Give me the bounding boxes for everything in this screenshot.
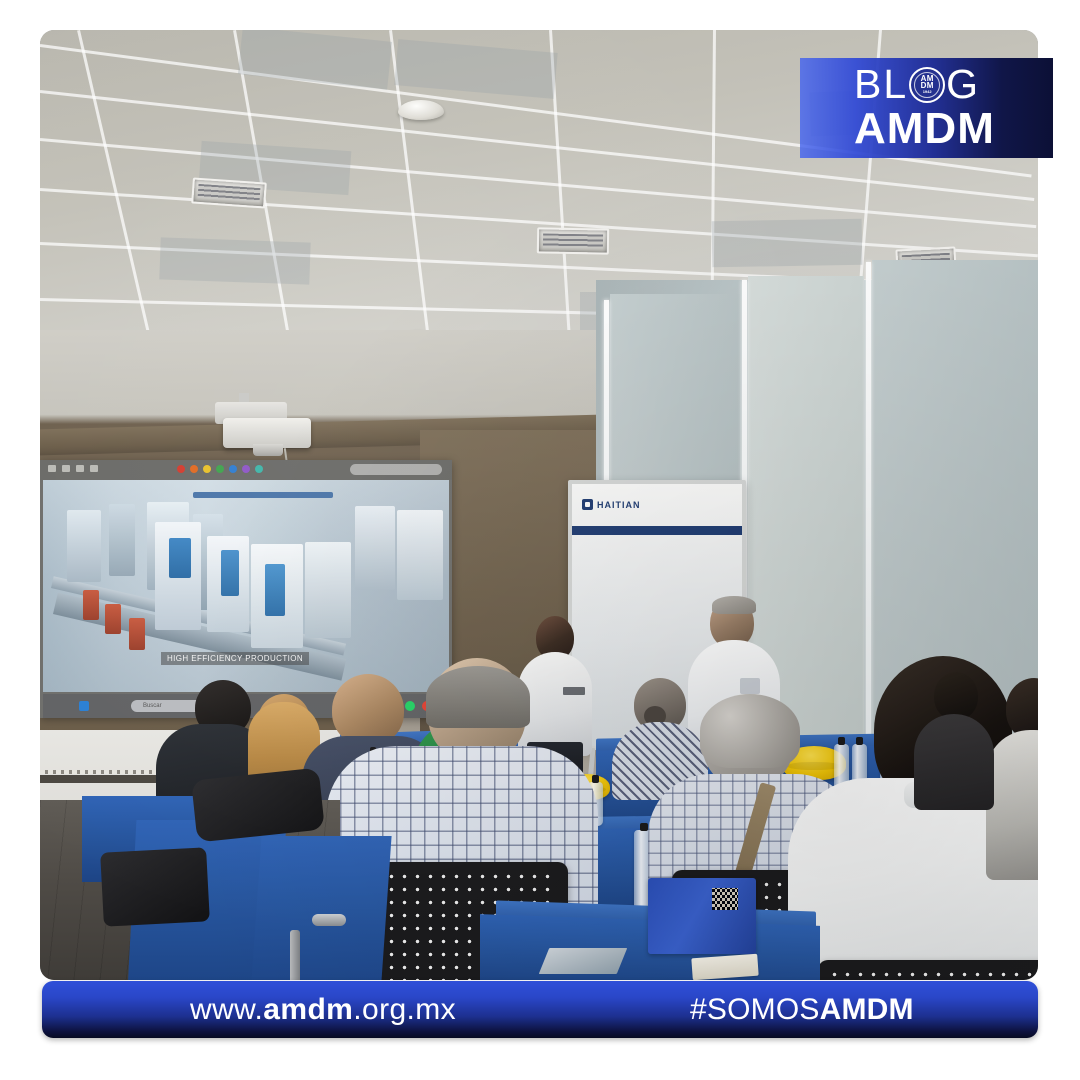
ceiling-tile-shaded [712, 219, 863, 268]
chair-leg [290, 930, 300, 980]
machine-blue-panel [221, 550, 239, 596]
ceiling-tile-shaded [238, 30, 392, 90]
haitian-brand-text: HAITIAN [597, 500, 641, 510]
audience-torso [914, 714, 994, 810]
printed-handout [539, 948, 628, 974]
factory-machine [355, 506, 395, 590]
presenter-one-badge [563, 687, 585, 695]
wall-seam [866, 262, 871, 790]
haitian-mark-icon [582, 499, 593, 510]
seal-year-text: 1942 [923, 89, 932, 94]
toolbar-color-dots [177, 465, 263, 473]
badge-bl-text: BL [854, 64, 908, 104]
screen-app-toolbar [40, 460, 452, 480]
projected-video: HIGH EFFICIENCY PRODUCTION [43, 480, 449, 692]
toolbar-color-dot [229, 465, 237, 473]
factory-machine [109, 504, 135, 576]
machine-blue-panel [169, 538, 191, 578]
factory-machine [397, 510, 443, 600]
factory-robot [83, 590, 99, 620]
presenter-two-pocket [740, 678, 760, 694]
toolbar-color-dot [177, 465, 185, 473]
smoke-detector-icon [398, 100, 444, 120]
hashtag-brand: AMDM [820, 993, 914, 1026]
toolbar-color-dot [190, 465, 198, 473]
projection-screen: HIGH EFFICIENCY PRODUCTION Buscar [40, 460, 452, 718]
blog-amdm-badge: BL AM DM 1942 G AMDM [800, 58, 1053, 158]
badge-line-two: AMDM [854, 107, 1053, 152]
audience-hair [426, 666, 530, 728]
laptop-bag [100, 847, 210, 926]
conference-tote-bag [648, 878, 756, 954]
social-card: HIGH EFFICIENCY PRODUCTION Buscar HAITIA… [0, 0, 1080, 1080]
seal-am-text: AM [921, 75, 934, 82]
tablecloth-left [250, 836, 391, 980]
url-suffix: .org.mx [353, 993, 456, 1026]
toolbar-color-dot [242, 465, 250, 473]
url-brand: amdm [263, 993, 353, 1026]
factory-robot [129, 618, 145, 650]
audience-hair [700, 694, 800, 768]
toolbar-address-field [350, 464, 442, 475]
ceiling-tile-shaded [394, 39, 557, 99]
badge-g-text: G [946, 64, 980, 104]
event-photo: HIGH EFFICIENCY PRODUCTION Buscar HAITIA… [40, 30, 1038, 980]
video-caption: HIGH EFFICIENCY PRODUCTION [161, 652, 309, 665]
toolbar-color-dot [255, 465, 263, 473]
presenter-two-hair [712, 596, 756, 614]
factory-robot [105, 604, 121, 634]
machine-blue-panel [265, 564, 285, 616]
flipchart-accent-band [572, 526, 742, 535]
amdm-seal-logo: AM DM 1942 [909, 67, 945, 103]
factory-machine [305, 542, 351, 638]
haitian-logo: HAITIAN [582, 499, 641, 510]
factory-machine [67, 510, 101, 582]
napkin [691, 954, 758, 980]
qr-code-icon [712, 888, 738, 910]
url-prefix: www. [190, 993, 263, 1026]
chair-armrest [312, 914, 346, 926]
whatsapp-icon [405, 701, 415, 711]
mesh-chair-back [818, 960, 1038, 980]
footer-bar: www.amdm.org.mx #SOMOSAMDM [42, 981, 1038, 1038]
website-url[interactable]: www.amdm.org.mx [190, 993, 456, 1027]
audience-head [934, 672, 978, 720]
backpack [191, 767, 325, 842]
ceiling-air-vent [191, 177, 267, 208]
toolbar-left-icons [48, 465, 98, 472]
ceiling-air-vent [537, 227, 609, 254]
toolbar-color-dot [203, 465, 211, 473]
badge-line-one: BL AM DM 1942 G [854, 64, 1053, 104]
toolbar-color-dot [216, 465, 224, 473]
hashtag-prefix: #SOMOS [690, 993, 820, 1026]
factory-crane-beam [193, 492, 333, 498]
hashtag: #SOMOSAMDM [690, 993, 914, 1027]
taskbar-start-icon [79, 701, 89, 711]
ceiling-tile-shaded [159, 237, 310, 284]
seal-dm-text: DM [921, 82, 934, 89]
projector-lens [253, 444, 283, 456]
